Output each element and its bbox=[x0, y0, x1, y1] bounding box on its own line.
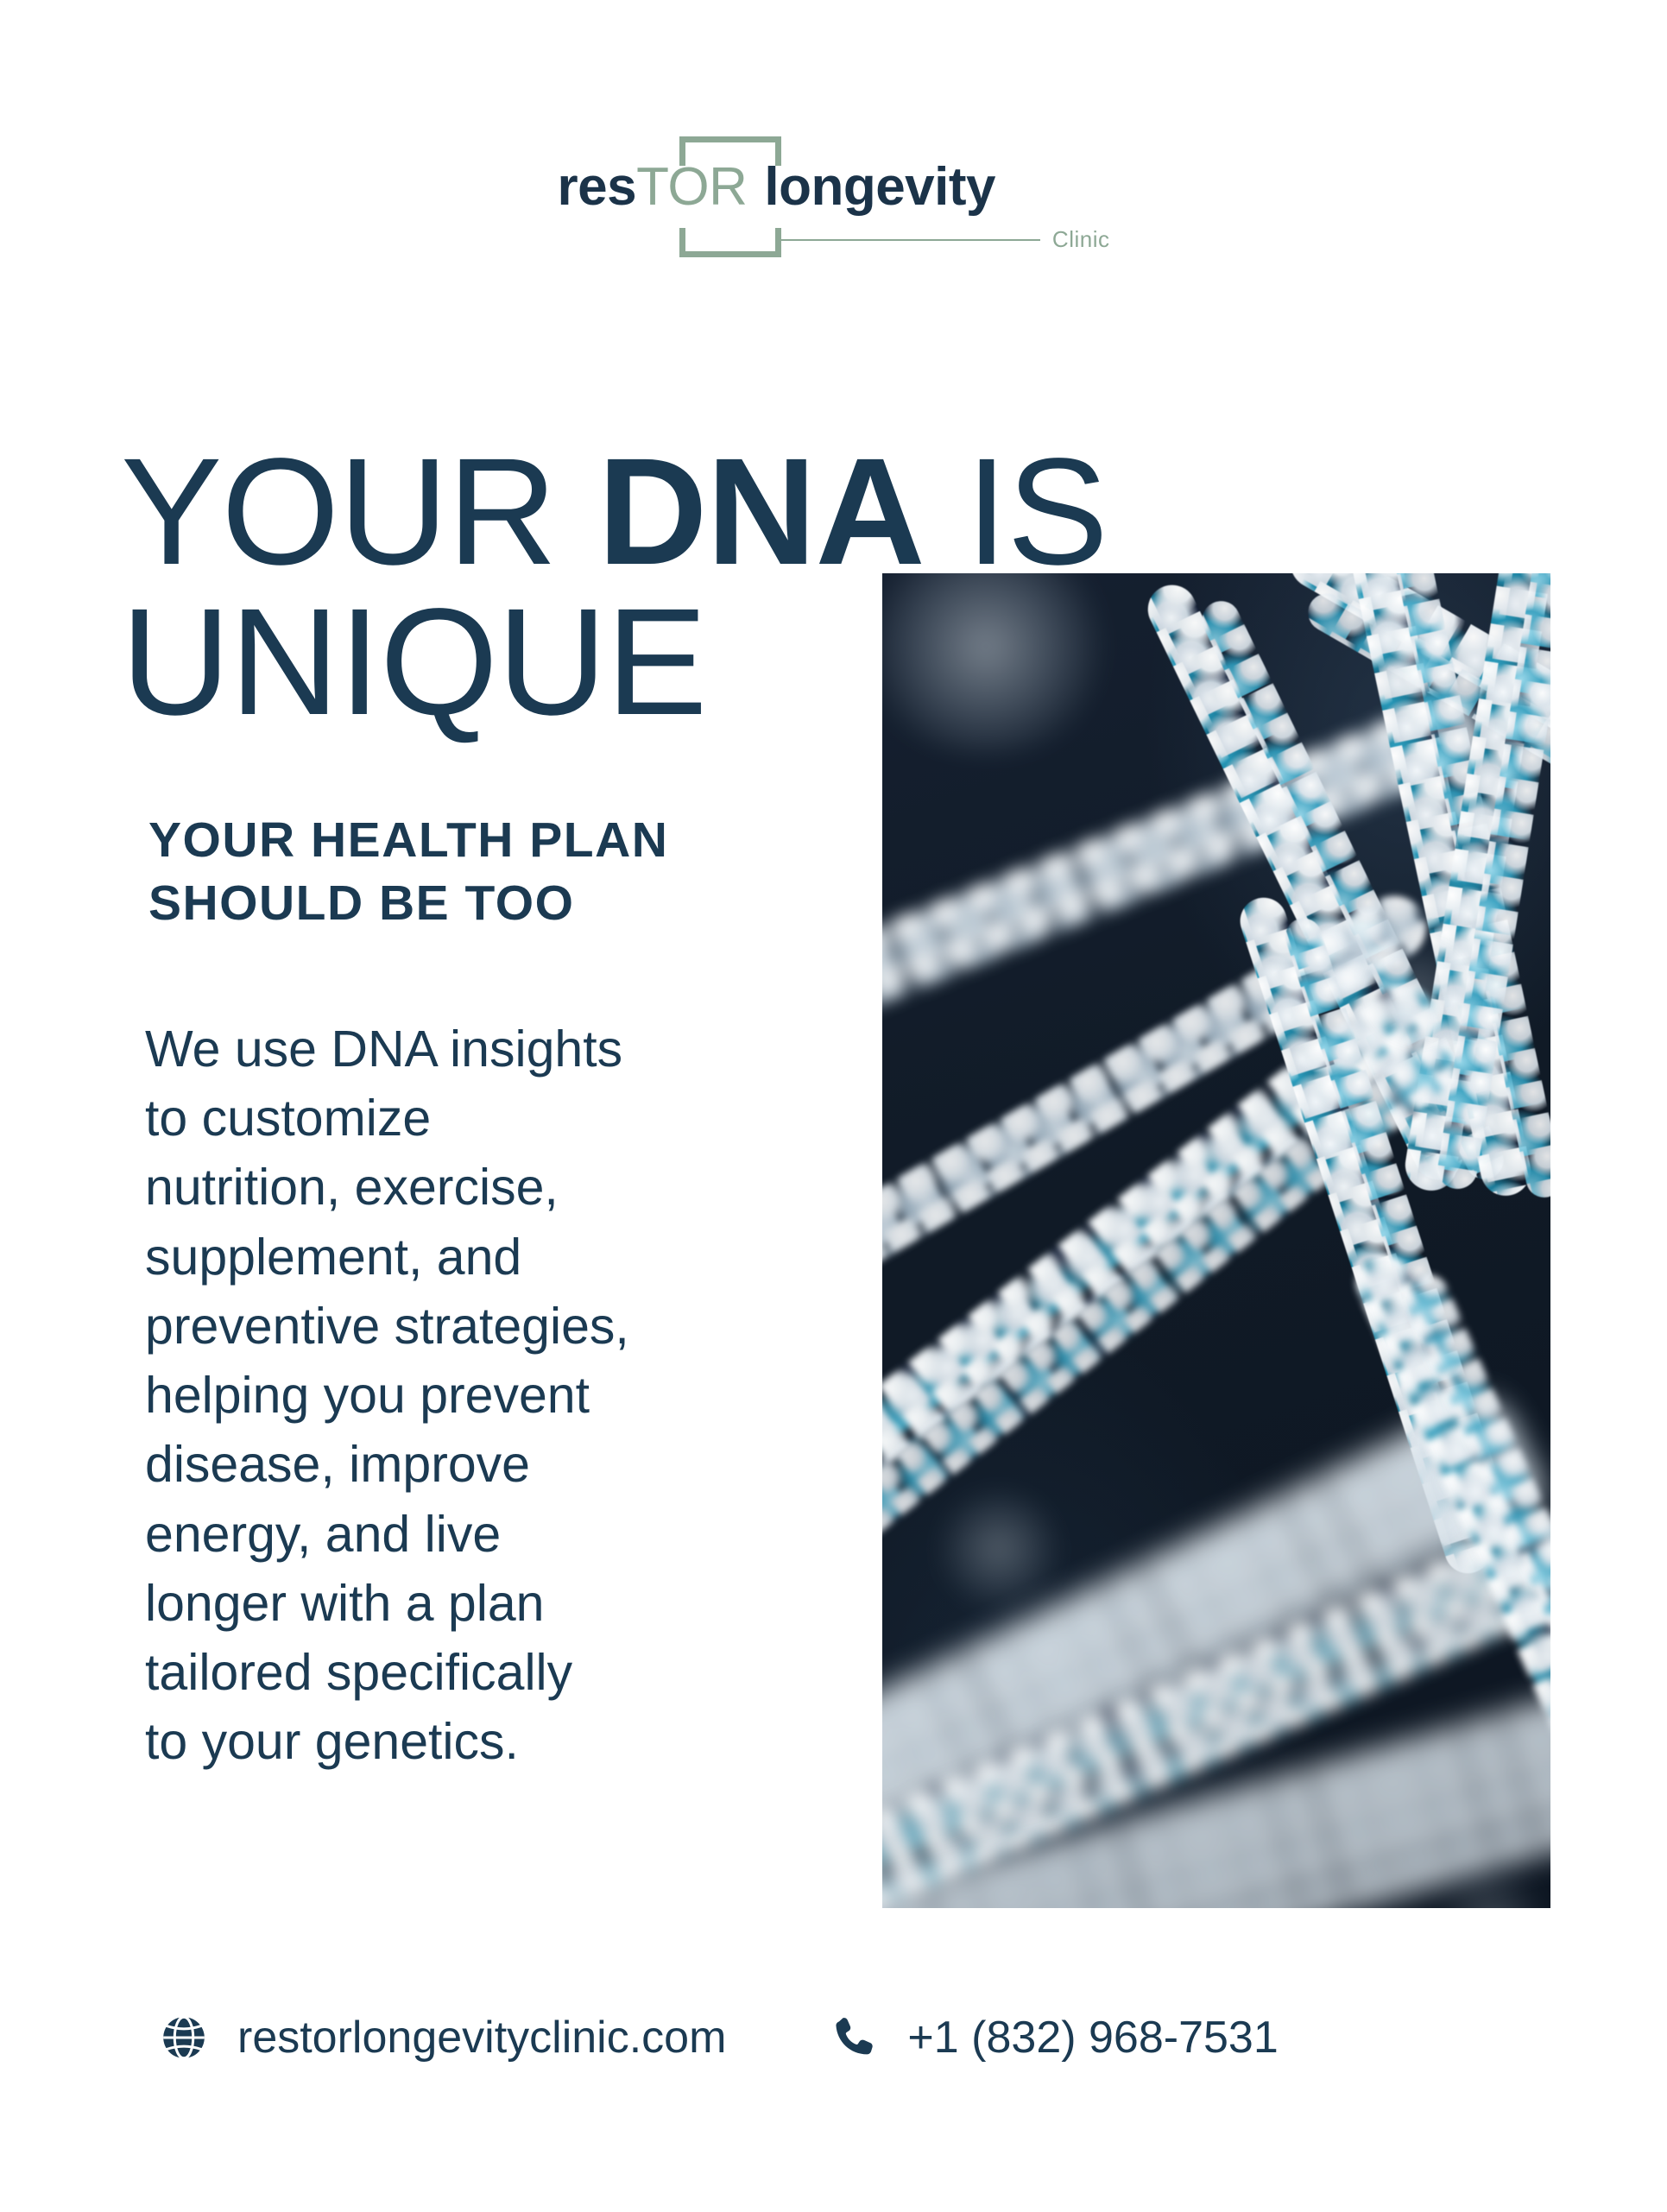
footer-contact-bar: restorlongevityclinic.com +1 (832) 968-7… bbox=[0, 1986, 1667, 2089]
body-line: to customize bbox=[145, 1084, 818, 1153]
logo-word-res: res bbox=[558, 157, 637, 217]
contact-phone[interactable]: +1 (832) 968-7531 bbox=[830, 2012, 1278, 2063]
logo-divider-rule bbox=[775, 239, 1040, 241]
headline-word-dna: DNA bbox=[597, 427, 924, 597]
logo-word-longevity: longevity bbox=[764, 157, 995, 217]
body-line: supplement, and bbox=[145, 1223, 818, 1292]
logo-tagline-row: Clinic bbox=[775, 226, 1110, 253]
subheading: YOUR HEALTH PLAN SHOULD BE TOO bbox=[148, 809, 856, 935]
headline-word-is: IS bbox=[925, 427, 1108, 597]
subheading-line-1: YOUR HEALTH PLAN bbox=[148, 809, 856, 872]
brand-logo[interactable]: resTORlongevity Clinic bbox=[0, 136, 1667, 266]
dna-bokeh-blob bbox=[934, 1488, 1064, 1609]
body-line: disease, improve bbox=[145, 1430, 818, 1499]
body-line: preventive strategies, bbox=[145, 1292, 818, 1361]
logo-wordmark: resTORlongevity bbox=[558, 161, 1110, 214]
body-copy: We use DNA insights to customize nutriti… bbox=[145, 1014, 818, 1777]
body-line: We use DNA insights bbox=[145, 1014, 818, 1084]
phone-icon bbox=[830, 2013, 878, 2062]
dna-image-content bbox=[882, 573, 1550, 1908]
headline-line-1: YOUR DNA IS bbox=[121, 437, 1416, 587]
logo-inner: resTORlongevity Clinic bbox=[558, 136, 1110, 266]
dna-helix-image bbox=[882, 573, 1550, 1908]
body-line: nutrition, exercise, bbox=[145, 1153, 818, 1222]
website-label: restorlongevityclinic.com bbox=[237, 2012, 726, 2063]
phone-label: +1 (832) 968-7531 bbox=[907, 2012, 1278, 2063]
body-line: helping you prevent bbox=[145, 1361, 818, 1430]
logo-tagline-clinic: Clinic bbox=[1052, 226, 1110, 253]
bracket-corner-bottom-left bbox=[679, 228, 685, 257]
subheading-line-2: SHOULD BE TOO bbox=[148, 872, 856, 935]
body-line: to your genetics. bbox=[145, 1707, 818, 1776]
poster-canvas: resTORlongevity Clinic YOUR DNA IS UNIQU… bbox=[0, 0, 1667, 2212]
dna-bokeh-blob bbox=[882, 573, 1115, 755]
body-line: tailored specifically bbox=[145, 1638, 818, 1707]
body-line: longer with a plan bbox=[145, 1569, 818, 1638]
headline-word-your: YOUR bbox=[121, 427, 597, 597]
body-line: energy, and live bbox=[145, 1500, 818, 1569]
logo-word-tor: TOR bbox=[636, 157, 747, 217]
contact-website[interactable]: restorlongevityclinic.com bbox=[160, 2012, 726, 2063]
globe-icon bbox=[160, 2013, 208, 2062]
dna-bokeh-blob bbox=[1366, 945, 1469, 1040]
